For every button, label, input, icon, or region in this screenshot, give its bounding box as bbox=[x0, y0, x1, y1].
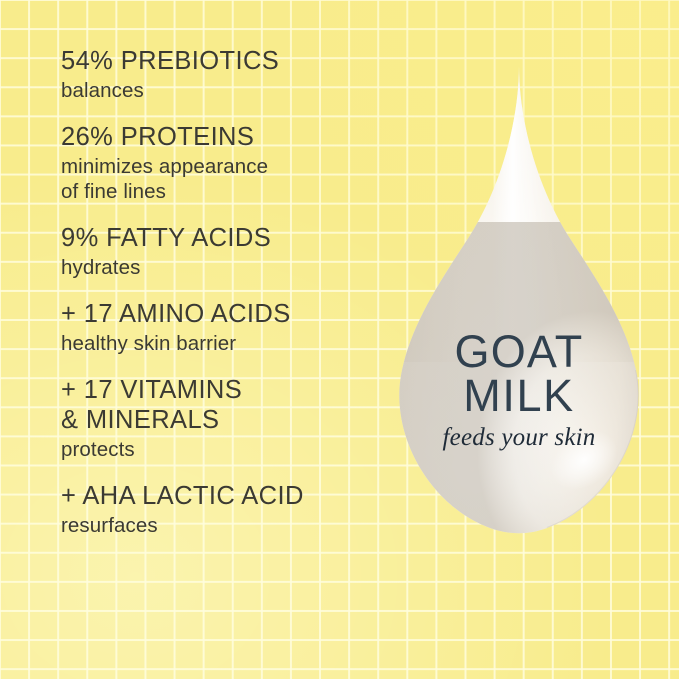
ingredient-benefit: hydrates bbox=[61, 255, 391, 280]
ingredient-item-amino-acids: + 17 AMINO ACIDS healthy skin barrier bbox=[61, 299, 391, 356]
ingredient-benefit: healthy skin barrier bbox=[61, 331, 391, 356]
ingredient-list: 54% PREBIOTICS balances 26% PROTEINS min… bbox=[61, 46, 391, 538]
ingredient-benefit: resurfaces bbox=[61, 513, 391, 538]
ingredient-benefit: balances bbox=[61, 78, 391, 103]
ingredient-headline: + 17 VITAMINS & MINERALS bbox=[61, 375, 391, 435]
ingredient-item-proteins: 26% PROTEINS minimizes appearance of fin… bbox=[61, 122, 391, 204]
ingredient-headline: + 17 AMINO ACIDS bbox=[61, 299, 391, 329]
ingredient-headline: 26% PROTEINS bbox=[61, 122, 391, 152]
goat-milk-infographic: 54% PREBIOTICS balances 26% PROTEINS min… bbox=[0, 0, 679, 679]
ingredient-headline: 54% PREBIOTICS bbox=[61, 46, 391, 76]
ingredient-benefit: minimizes appearance of fine lines bbox=[61, 154, 391, 204]
ingredient-item-fatty-acids: 9% FATTY ACIDS hydrates bbox=[61, 223, 391, 280]
ingredient-item-vitamins-minerals: + 17 VITAMINS & MINERALS protects bbox=[61, 375, 391, 462]
milk-droplet-icon bbox=[388, 62, 650, 540]
ingredient-headline: 9% FATTY ACIDS bbox=[61, 223, 391, 253]
ingredient-headline: + AHA LACTIC ACID bbox=[61, 481, 391, 511]
ingredient-benefit: protects bbox=[61, 437, 391, 462]
ingredient-item-aha-lactic-acid: + AHA LACTIC ACID resurfaces bbox=[61, 481, 391, 538]
ingredient-item-prebiotics: 54% PREBIOTICS balances bbox=[61, 46, 391, 103]
